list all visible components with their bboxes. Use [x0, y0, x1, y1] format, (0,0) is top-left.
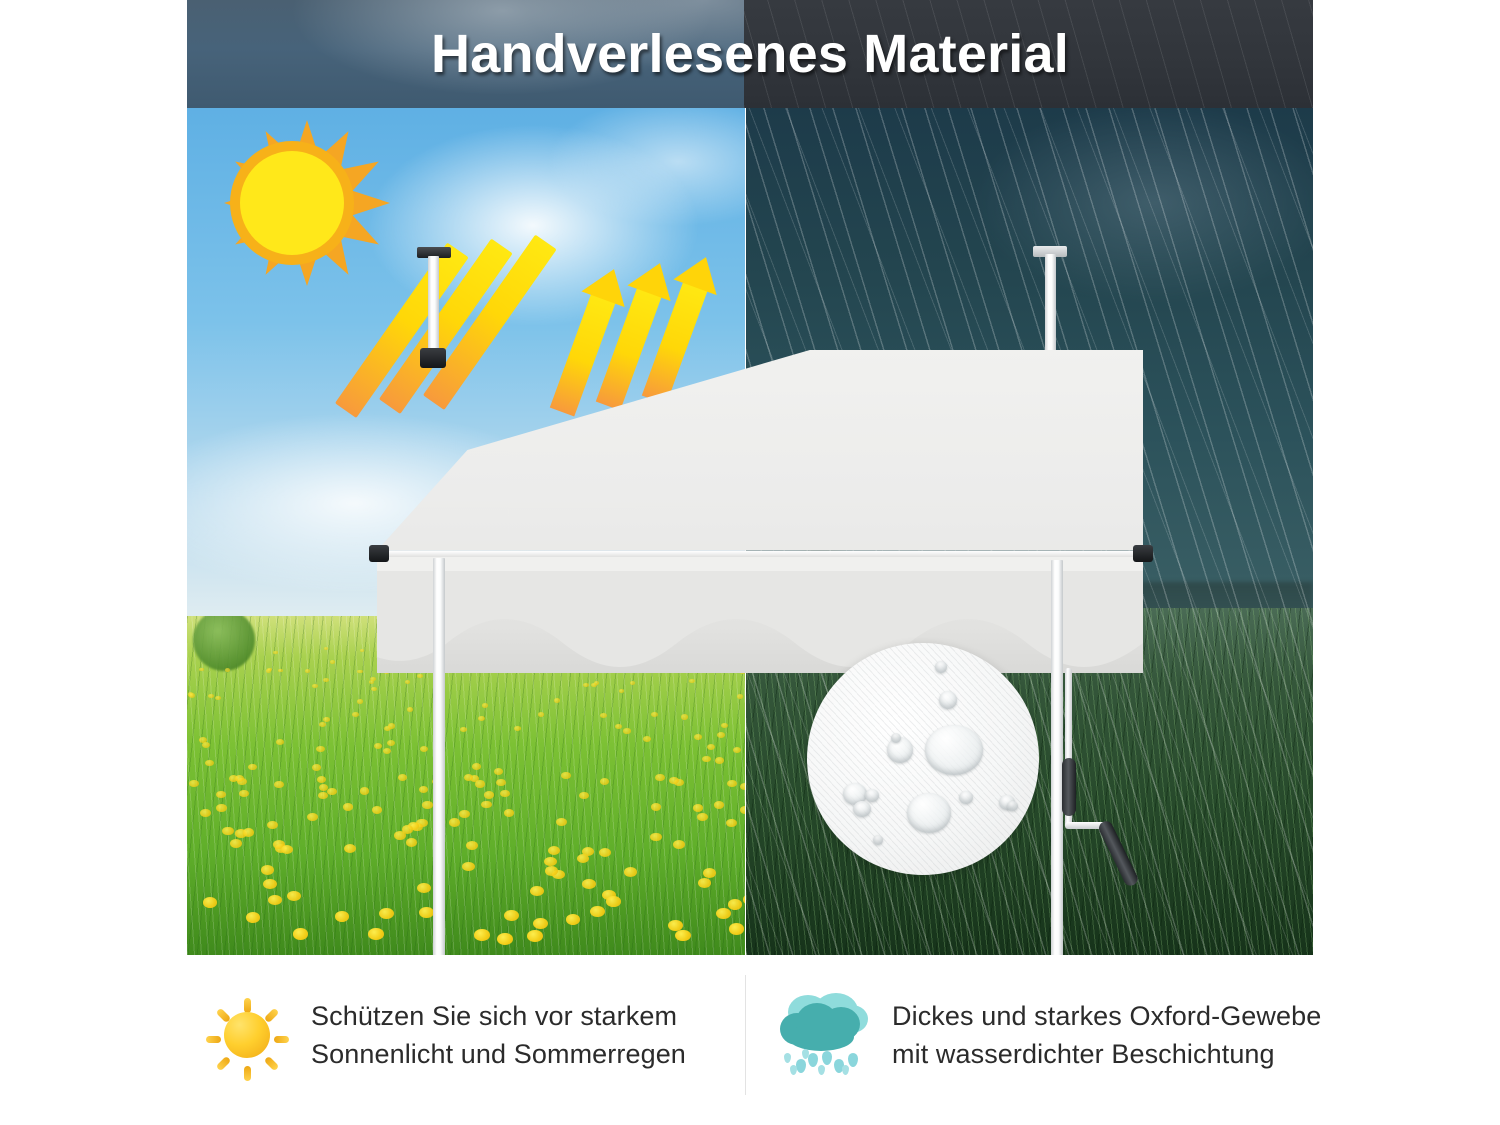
left-support-pole: [433, 558, 445, 955]
rain-drop: [796, 1059, 806, 1073]
rain-drop: [808, 1053, 818, 1067]
left-post-clamp-icon: [420, 348, 446, 368]
rain-drop: [818, 1065, 825, 1075]
cloud-puff: [788, 1023, 854, 1051]
water-drop: [935, 661, 947, 673]
water-drop: [865, 789, 879, 802]
feature-item-sun-protection: Schützen Sie sich vor starkem Sonnenlich…: [187, 975, 745, 1095]
product-feature-banner: Handverlesenes Material: [0, 0, 1500, 1125]
sun-ray: [244, 1066, 251, 1081]
sun-ray: [263, 1007, 279, 1023]
water-drop: [907, 793, 951, 833]
rain-drop: [842, 1065, 849, 1075]
feature-row: Schützen Sie sich vor starkem Sonnenlich…: [187, 975, 1313, 1095]
sun-ray: [206, 1036, 221, 1043]
hero-image: Handverlesenes Material: [187, 0, 1313, 955]
valance-wave-shape: [377, 557, 1143, 673]
awning-valance: [377, 557, 1143, 673]
right-front-clamp-icon: [1133, 545, 1153, 562]
water-drop: [939, 691, 957, 709]
sun-icon: [205, 993, 289, 1077]
feature-line-2: mit wasserdichter Beschichtung: [892, 1035, 1321, 1073]
sun-ray: [244, 998, 251, 1013]
water-drop: [873, 835, 883, 845]
feature-line-1: Dickes und starkes Oxford-Gewebe: [892, 997, 1321, 1035]
water-drop: [1007, 801, 1018, 811]
sun-ray: [274, 1036, 289, 1043]
feature-item-waterproof-fabric: Dickes und starkes Oxford-Gewebe mit was…: [745, 975, 1313, 1095]
rain-drop: [790, 1065, 797, 1075]
crank-upper-grip: [1062, 758, 1076, 816]
water-drop: [925, 725, 983, 775]
page-title: Handverlesenes Material: [187, 0, 1313, 108]
crank-handle-grip: [1097, 819, 1140, 888]
sun-ray: [215, 1055, 231, 1071]
feature-line-1: Schützen Sie sich vor starkem: [311, 997, 686, 1035]
feature-line-2: Sonnenlicht und Sommerregen: [311, 1035, 686, 1073]
waterproof-fabric-closeup: [807, 643, 1039, 875]
sun-ray: [263, 1055, 279, 1071]
retractable-patio-awning: [187, 108, 1313, 955]
left-front-clamp-icon: [369, 545, 389, 562]
right-support-pole: [1051, 560, 1063, 955]
water-drop: [891, 733, 901, 743]
rain-drop: [784, 1053, 791, 1063]
rain-drop: [848, 1053, 858, 1067]
hero-scene: [187, 108, 1313, 955]
feature-text-sun: Schützen Sie sich vor starkem Sonnenlich…: [311, 997, 686, 1074]
sun-disc: [224, 1012, 270, 1058]
feature-text-fabric: Dickes und starkes Oxford-Gewebe mit was…: [892, 997, 1321, 1074]
water-drop: [853, 801, 871, 817]
rain-cloud-icon: [778, 993, 870, 1077]
water-drop: [959, 791, 973, 804]
rain-drop: [822, 1051, 832, 1065]
